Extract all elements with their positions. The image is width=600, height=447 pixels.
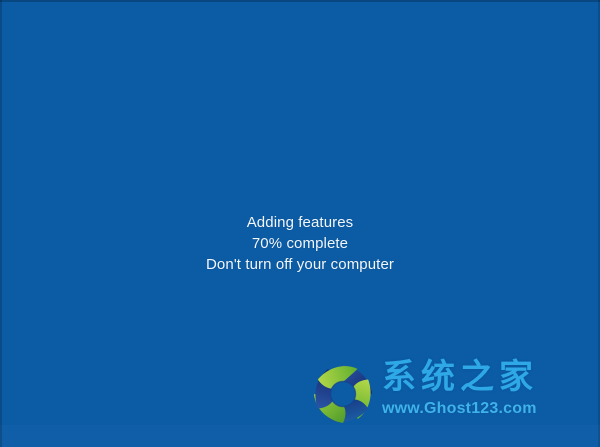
update-progress-label: 70% complete <box>0 233 600 254</box>
watermark-text-group: 系统之家 www.Ghost123.com <box>382 355 582 418</box>
screen-edge-top <box>0 0 600 2</box>
watermark-site-name: 系统之家 <box>382 355 582 399</box>
windows-update-screen: Adding features 70% complete Don't turn … <box>0 0 600 447</box>
watermark-site-url: www.Ghost123.com <box>382 399 582 418</box>
swirl-ring-logo-icon <box>310 361 376 427</box>
update-operation-label: Adding features <box>0 212 600 233</box>
update-warning-label: Don't turn off your computer <box>0 254 600 275</box>
update-status-block: Adding features 70% complete Don't turn … <box>0 212 600 275</box>
site-watermark: 系统之家 www.Ghost123.com <box>310 355 585 433</box>
